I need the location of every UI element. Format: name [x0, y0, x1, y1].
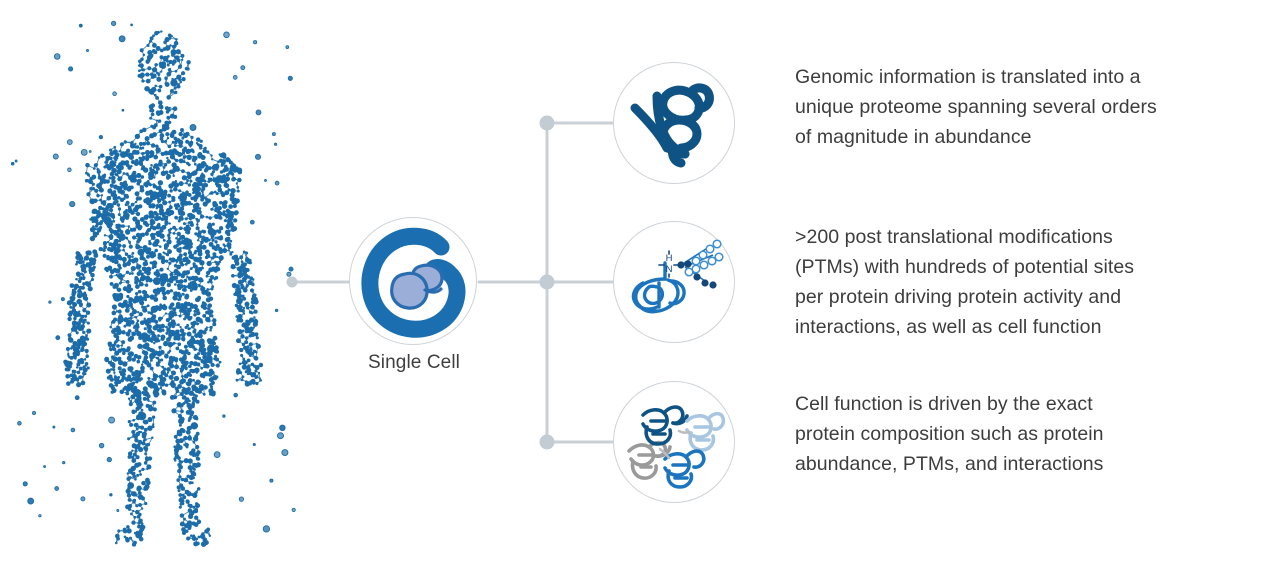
description-ptm-line-1: >200 post translational modifications: [795, 222, 1265, 252]
protein-complex-icon: [613, 381, 735, 503]
protein-light-blue: [687, 414, 723, 450]
description-ptm-line-3: per protein driving protein activity and: [795, 282, 1265, 312]
folded-protein-icon: [613, 62, 735, 184]
description-complex-line-2: protein composition such as protein: [795, 419, 1265, 449]
description-ptm-line-4: interactions, as well as cell function: [795, 312, 1265, 342]
human-body-network-illustration: [0, 0, 300, 557]
ptm-glycan-protein-icon: H N: [613, 221, 735, 343]
description-complex-line-3: abundance, PTMs, and interactions: [795, 449, 1265, 479]
network-nodes: [63, 30, 263, 547]
nucleus: [392, 265, 442, 308]
glycan-chain: [677, 240, 722, 288]
junction-dot-complex: [540, 435, 555, 450]
description-complex-line-1: Cell function is driven by the exact: [795, 389, 1265, 419]
folded-protein-node[interactable]: [613, 62, 735, 184]
description-protein-line-3: of magnitude in abundance: [795, 122, 1265, 152]
description-protein-line-2: unique proteome spanning several orders: [795, 92, 1265, 122]
description-ptm: >200 post translational modifications (P…: [795, 222, 1265, 342]
description-ptm-line-2: (PTMs) with hundreds of potential sites: [795, 252, 1265, 282]
junction-dot-protein: [540, 116, 555, 131]
protein-dark-blue: [643, 407, 687, 444]
hn-label: H N: [666, 253, 673, 275]
network-stray-dots: [11, 21, 295, 532]
infographic-canvas: Single Cell: [0, 0, 1280, 557]
ptm-glycan-protein-node[interactable]: H N: [613, 221, 735, 343]
single-cell-node[interactable]: [349, 217, 479, 347]
protein-complex-node[interactable]: [613, 381, 735, 503]
protein-mid-blue: [665, 451, 704, 487]
single-cell-icon: [349, 217, 479, 347]
description-protein-line-1: Genomic information is translated into a: [795, 62, 1265, 92]
single-cell-label: Single Cell: [329, 352, 499, 374]
junction-dot-ptm: [540, 275, 555, 290]
description-protein: Genomic information is translated into a…: [795, 62, 1265, 152]
description-complex: Cell function is driven by the exact pro…: [795, 389, 1265, 479]
